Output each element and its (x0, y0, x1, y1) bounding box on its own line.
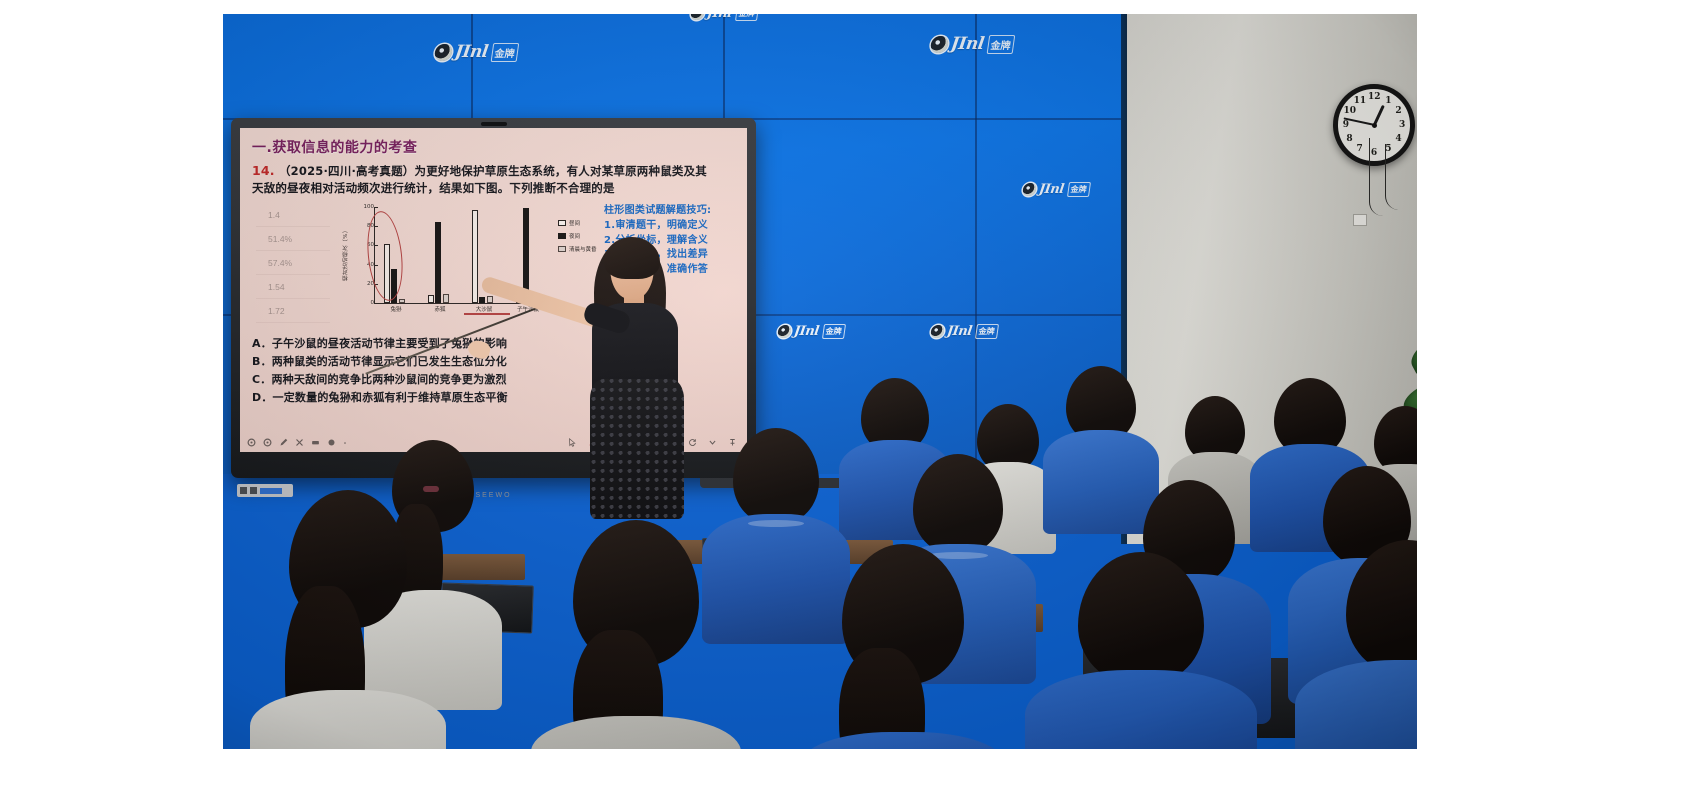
chart-bar (472, 210, 478, 303)
chart-bar (487, 296, 493, 303)
watermark-text: JInl (793, 324, 820, 339)
chart-y-tick: 20 (362, 281, 374, 287)
ghost-value: 1.54 (256, 275, 330, 299)
student (1043, 552, 1239, 749)
watermark-logo: JInl 金牌 (930, 34, 1016, 54)
watermark-cn: 金牌 (986, 35, 1015, 54)
clock-number: 3 (1396, 120, 1408, 130)
student (1313, 540, 1417, 749)
watermark-logo: JInl 金牌 (434, 42, 520, 62)
chart-y-axis-label: 相对活动频次（%） (342, 227, 350, 281)
watermark-text: JInl (946, 324, 973, 339)
annotation-underline (464, 313, 510, 315)
eye-icon (434, 44, 453, 61)
watermark-cn: 金牌 (975, 324, 999, 339)
collar (748, 520, 804, 527)
student-head (1346, 540, 1417, 674)
classroom-photo: JInl 金牌 JInl 金牌 JInl 金牌 JInl 金牌 JInl (223, 14, 1417, 749)
clock-number: 12 (1368, 92, 1380, 102)
legend-label: 昼间 (569, 219, 580, 227)
chart-bar-group (428, 222, 449, 303)
ghost-value: 1.4 (256, 203, 330, 227)
eye-icon (930, 325, 945, 338)
legend-swatch-icon (558, 233, 566, 239)
student (263, 490, 433, 749)
teacher-hair-top (604, 237, 660, 279)
eye-icon (930, 36, 949, 53)
chart-bar (428, 295, 434, 303)
watermark-cn: 金牌 (735, 14, 759, 21)
wall-socket (1353, 214, 1367, 226)
student-uniform (1295, 660, 1417, 749)
question-line-1: （2025·四川·高考真题）为更好地保护草原生态系统，有人对某草原两种鼠类及其 (279, 164, 707, 178)
eye-icon (777, 325, 792, 338)
legend-swatch-icon (558, 246, 566, 252)
clock-number: 2 (1392, 106, 1404, 116)
student (813, 544, 993, 749)
clock-number: 8 (1344, 134, 1356, 144)
screenshot-canvas: JInl 金牌 JInl 金牌 JInl 金牌 JInl 金牌 JInl (0, 0, 1686, 812)
watermark-cn: 金牌 (1067, 182, 1091, 197)
student-top (250, 690, 446, 749)
chart-bar (435, 222, 441, 303)
question-text: 14. （2025·四川·高考真题）为更好地保护草原生态系统，有人对某草原两种鼠… (252, 162, 735, 196)
watermark-cn: 金牌 (490, 43, 519, 62)
chart-y-tick: 100 (362, 204, 374, 210)
student (543, 520, 729, 749)
watermark-text: JInl (706, 14, 733, 21)
camera-icon (481, 122, 507, 126)
watermark-text: JInl (1038, 182, 1065, 197)
eye-icon (1022, 183, 1037, 196)
watermark-cn: 金牌 (822, 324, 846, 339)
chart-legend-item: 昼间 (558, 219, 597, 227)
chart-x-label: 赤狐 (418, 305, 462, 313)
watermark-logo: JInl 金牌 (1022, 182, 1091, 197)
chart-y-tick: 0 (362, 300, 374, 306)
chart-bar (443, 294, 449, 303)
clock-number: 11 (1354, 96, 1366, 106)
student-head (733, 428, 819, 524)
student-head (1078, 552, 1204, 684)
chart-x-label: 大沙鼠 (462, 305, 506, 313)
slide-heading: 一.获取信息的能力的考查 (252, 137, 735, 157)
legend-swatch-icon (558, 220, 566, 226)
question-number: 14. (252, 163, 275, 178)
chart-x-label: 兔狲 (374, 305, 418, 313)
clock-number: 7 (1354, 144, 1366, 154)
watermark-text: JInl (950, 34, 986, 54)
student-head (913, 454, 1003, 554)
student-uniform (800, 732, 1006, 749)
ghost-value: 57.4% (256, 251, 330, 275)
chart-bar (479, 297, 485, 303)
eye-icon (690, 14, 705, 20)
ghost-value: 51.4% (256, 227, 330, 251)
ghost-value-column: 1.4 51.4% 57.4% 1.54 1.72 (256, 203, 330, 327)
clock-number: 9 (1340, 120, 1352, 130)
student-uniform (1025, 670, 1257, 749)
student-top (531, 716, 741, 749)
clock-number: 1 (1382, 96, 1394, 106)
chart-bar (399, 299, 405, 303)
tips-heading: 柱形图类试题解题技巧: (604, 201, 747, 216)
watermark-logo: JInl 金牌 (930, 324, 999, 339)
question-line-2: 天敌的昼夜相对活动频次进行统计，结果如下图。下列推断不合理的是 (252, 181, 615, 195)
watermark-logo: JInl 金牌 (777, 324, 846, 339)
ghost-value: 1.72 (256, 299, 330, 323)
clock-center-pin (1372, 123, 1377, 128)
clock-number: 10 (1344, 106, 1356, 116)
cable (1385, 144, 1417, 210)
students-group (223, 344, 1417, 749)
